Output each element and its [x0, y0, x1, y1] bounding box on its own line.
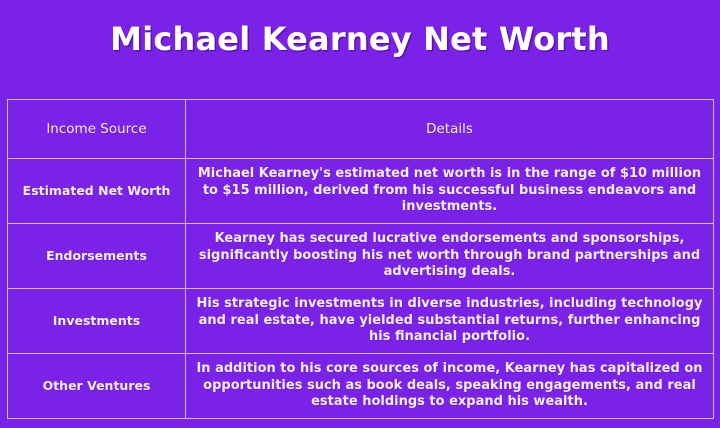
net-worth-table-container: Income Source Details Estimated Net Wort…	[7, 99, 713, 419]
net-worth-table: Income Source Details Estimated Net Wort…	[7, 99, 714, 419]
table-row: Other Ventures In addition to his core s…	[8, 354, 714, 419]
cell-income-source: Estimated Net Worth	[8, 159, 186, 224]
table-header-row: Income Source Details	[8, 100, 714, 159]
column-header-income-source: Income Source	[8, 100, 186, 159]
page-title: Michael Kearney Net Worth	[0, 20, 720, 58]
cell-income-source: Investments	[8, 289, 186, 354]
cell-details: His strategic investments in diverse ind…	[186, 289, 714, 354]
cell-details: Michael Kearney's estimated net worth is…	[186, 159, 714, 224]
net-worth-infographic: Michael Kearney Net Worth Income Source …	[0, 0, 720, 428]
cell-details: In addition to his core sources of incom…	[186, 354, 714, 419]
cell-income-source: Endorsements	[8, 224, 186, 289]
cell-details: Kearney has secured lucrative endorsemen…	[186, 224, 714, 289]
table-row: Endorsements Kearney has secured lucrati…	[8, 224, 714, 289]
cell-income-source: Other Ventures	[8, 354, 186, 419]
column-header-details: Details	[186, 100, 714, 159]
table-header: Income Source Details	[8, 100, 714, 159]
table-row: Investments His strategic investments in…	[8, 289, 714, 354]
table-row: Estimated Net Worth Michael Kearney's es…	[8, 159, 714, 224]
table-body: Estimated Net Worth Michael Kearney's es…	[8, 159, 714, 419]
